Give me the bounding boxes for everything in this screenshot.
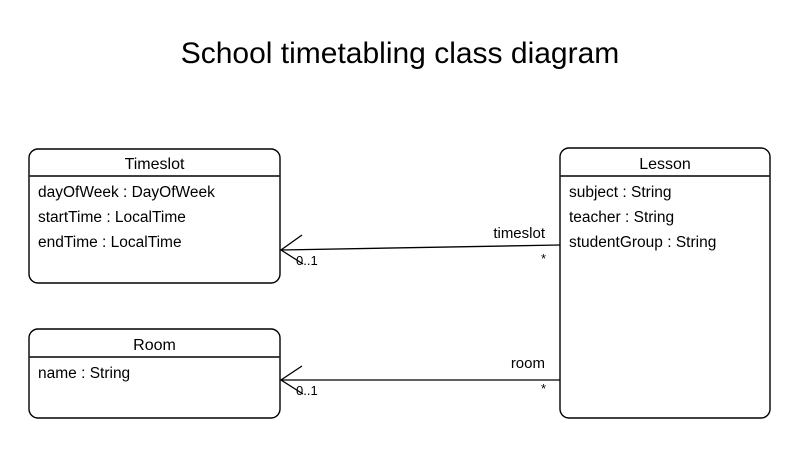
- multiplicity-target: 0..1: [296, 253, 318, 268]
- class-attribute: name : String: [38, 365, 130, 382]
- class-attribute: startTime : LocalTime: [38, 209, 186, 226]
- class-name-timeslot: Timeslot: [125, 156, 185, 173]
- class-node-timeslot[interactable]: Timeslot dayOfWeek : DayOfWeek startTime…: [29, 149, 280, 283]
- diagram-canvas: School timetabling class diagram Timeslo…: [0, 0, 800, 450]
- class-attribute: subject : String: [569, 184, 672, 201]
- multiplicity-target: 0..1: [296, 383, 318, 398]
- multiplicity-source: *: [541, 251, 546, 266]
- page-title: School timetabling class diagram: [181, 37, 620, 70]
- class-attribute: endTime : LocalTime: [38, 234, 182, 251]
- class-attribute: dayOfWeek : DayOfWeek: [38, 184, 215, 201]
- class-attribute: studentGroup : String: [569, 234, 716, 251]
- class-node-room[interactable]: Room name : String: [29, 329, 280, 418]
- class-diagram: School timetabling class diagram Timeslo…: [0, 0, 800, 450]
- association-line[interactable]: [281, 245, 560, 250]
- multiplicity-source: *: [541, 381, 546, 396]
- class-name-room: Room: [133, 337, 176, 354]
- class-name-lesson: Lesson: [639, 156, 691, 173]
- class-attribute: teacher : String: [569, 209, 674, 226]
- class-node-lesson[interactable]: Lesson subject : String teacher : String…: [560, 148, 770, 418]
- association-lesson-timeslot[interactable]: timeslot 0..1 *: [281, 225, 560, 268]
- association-label-timeslot: timeslot: [493, 225, 546, 242]
- association-label-room: room: [511, 355, 545, 372]
- association-lesson-room[interactable]: room 0..1 *: [281, 355, 560, 398]
